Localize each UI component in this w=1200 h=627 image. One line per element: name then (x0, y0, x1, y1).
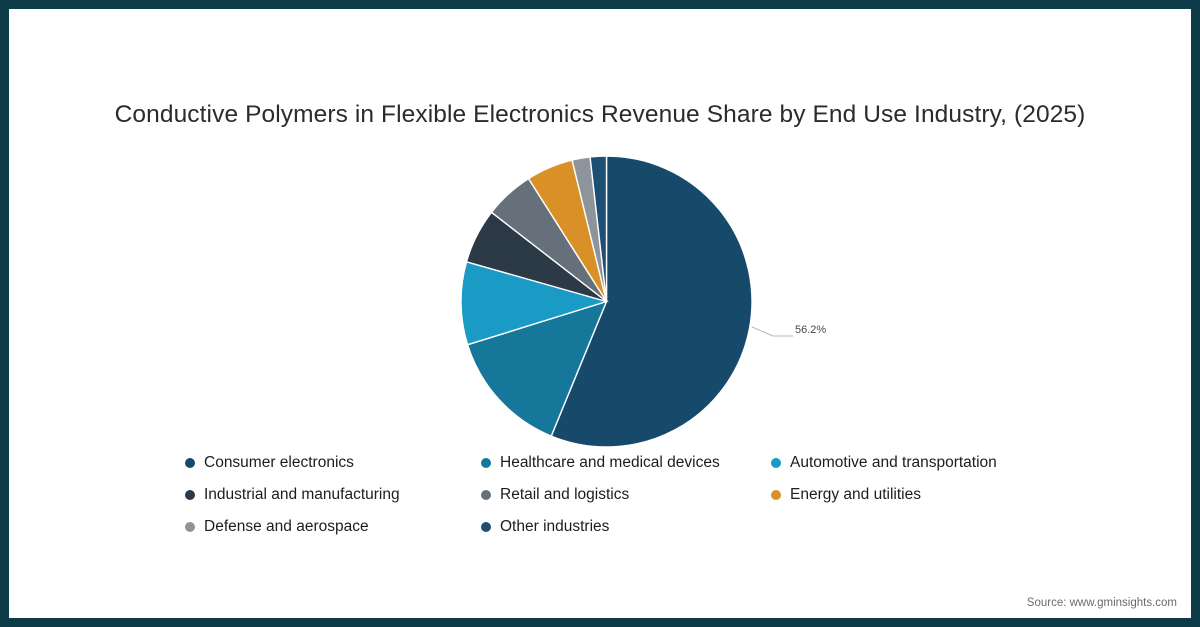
legend-swatch-icon (481, 522, 491, 532)
legend-item-defense-and-aerospace[interactable]: Defense and aerospace (185, 519, 481, 535)
legend-swatch-icon (771, 458, 781, 468)
legend-item-industrial-and-manufacturing[interactable]: Industrial and manufacturing (185, 487, 481, 503)
legend-swatch-icon (481, 458, 491, 468)
legend-item-energy-and-utilities[interactable]: Energy and utilities (771, 487, 1055, 503)
legend-swatch-icon (185, 490, 195, 500)
legend-item-label: Defense and aerospace (204, 519, 369, 535)
legend-item-label: Consumer electronics (204, 455, 354, 471)
legend-item-label: Industrial and manufacturing (204, 487, 400, 503)
source-attribution: Source: www.gminsights.com (1027, 597, 1177, 609)
legend-item-label: Retail and logistics (500, 487, 629, 503)
legend-item-label: Other industries (500, 519, 609, 535)
data-label-leader-line (751, 326, 793, 338)
legend-item-label: Automotive and transportation (790, 455, 997, 471)
legend-item-healthcare-and-medical-devices[interactable]: Healthcare and medical devices (481, 455, 771, 471)
legend-swatch-icon (185, 458, 195, 468)
legend-item-consumer-electronics[interactable]: Consumer electronics (185, 455, 481, 471)
page-title: Conductive Polymers in Flexible Electron… (9, 101, 1191, 129)
pie-slice-group: Consumer electronics: 56.2%Healthcare an… (461, 156, 752, 447)
legend-item-other-industries[interactable]: Other industries (481, 519, 771, 535)
legend-item-automotive-and-transportation[interactable]: Automotive and transportation (771, 455, 1055, 471)
legend-item-label: Energy and utilities (790, 487, 921, 503)
legend-item-retail-and-logistics[interactable]: Retail and logistics (481, 487, 771, 503)
legend-item-label: Healthcare and medical devices (500, 455, 720, 471)
legend-swatch-icon (185, 522, 195, 532)
pie-chart-svg: Consumer electronics: 56.2%Healthcare an… (461, 156, 752, 447)
pie-chart: Consumer electronics: 56.2%Healthcare an… (461, 156, 752, 447)
chart-legend: Consumer electronicsHealthcare and medic… (185, 447, 1055, 543)
data-label-consumer-electronics: 56.2% (795, 324, 826, 336)
chart-page: Conductive Polymers in Flexible Electron… (0, 0, 1200, 627)
legend-swatch-icon (481, 490, 491, 500)
legend-swatch-icon (771, 490, 781, 500)
